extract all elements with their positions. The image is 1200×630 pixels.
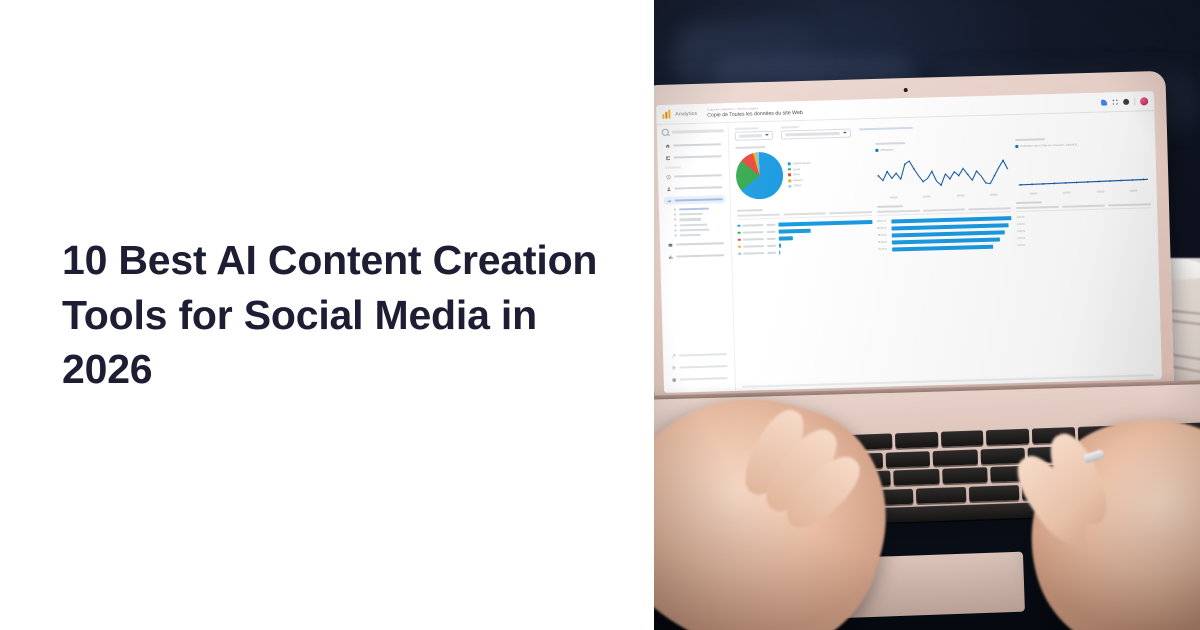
sidebar-item-temps-reel[interactable] <box>663 171 725 181</box>
row-value <box>767 245 776 247</box>
conversion-filter <box>781 125 851 140</box>
customization-icon <box>665 155 670 160</box>
divider <box>1134 97 1135 105</box>
sidebar-item-label <box>676 254 724 258</box>
sidebar-subitem-label <box>679 228 709 231</box>
sidebar-subitem-vue-ensemble[interactable] <box>674 207 726 211</box>
primary-dimension-select[interactable] <box>735 131 773 141</box>
legend-item: Organic Search <box>788 162 811 166</box>
bullet-icon <box>674 224 676 226</box>
help-icon[interactable] <box>1123 98 1129 104</box>
sidebar-item-comportement[interactable] <box>665 239 727 249</box>
legend-item: Direct <box>788 173 811 177</box>
legend-item: Social <box>788 167 811 171</box>
search-placeholder <box>672 129 724 133</box>
sidebar-subitem-tout-le-trafic[interactable] <box>674 212 726 216</box>
sidebar-item-acquisition[interactable] <box>664 195 726 205</box>
pie-chart <box>735 152 783 200</box>
card-title <box>1015 138 1045 141</box>
row-value: 75,44 % <box>878 241 889 244</box>
acquisition-icon <box>667 198 672 203</box>
tick <box>990 194 998 196</box>
sidebar-item-label <box>675 198 723 202</box>
row-value <box>766 224 775 226</box>
sidebar-item-conversions[interactable] <box>665 251 727 261</box>
sidebar-subitem-campagnes[interactable] <box>675 233 727 237</box>
conversion-select[interactable] <box>781 129 851 140</box>
column-header <box>737 214 780 217</box>
tick <box>956 195 964 197</box>
column-header <box>829 211 872 214</box>
analytics-dashboard: Analytics Toutes les catégories > Tous l… <box>656 91 1162 393</box>
sidebar-item-administration[interactable] <box>669 374 731 384</box>
chevron-down-icon <box>843 132 847 134</box>
row-value: 80,53 % <box>877 227 888 230</box>
apps-grid-icon[interactable] <box>1112 99 1118 105</box>
column-header <box>923 209 966 212</box>
avatar[interactable] <box>1140 97 1148 105</box>
card-title <box>735 146 765 149</box>
sidebar-item-decouvrir[interactable] <box>668 362 730 372</box>
row-value <box>767 231 776 233</box>
bullet-icon <box>674 219 676 221</box>
select-value <box>739 134 762 137</box>
bullet-icon <box>675 235 677 237</box>
sidebar-item-label <box>673 155 721 159</box>
table-title <box>1016 201 1042 204</box>
users-line-chart <box>876 150 1011 196</box>
row-value: 82,87 % <box>877 220 888 223</box>
summary-cards: Organic Search Social Direct Referral (O… <box>735 135 1150 203</box>
sidebar-item-label <box>674 186 722 190</box>
row-label <box>742 224 763 227</box>
table-title <box>737 209 763 212</box>
search-input[interactable] <box>662 127 724 136</box>
discover-icon <box>671 365 676 370</box>
column-header <box>877 210 920 213</box>
audience-icon <box>666 186 671 191</box>
bullet-icon <box>675 229 677 231</box>
card-title <box>875 142 905 145</box>
laptop-screen: Analytics Toutes les catégories > Tous l… <box>656 91 1162 393</box>
report-tables: 82,87 % 80,53 % 78,44 % <box>737 198 1152 257</box>
table-title <box>877 205 903 208</box>
column-header <box>969 208 1012 211</box>
chevron-down-icon <box>765 134 769 136</box>
row-bar <box>779 250 780 254</box>
home-icon <box>665 143 670 148</box>
table-conversions: 0,00 % 0,00 % 0,00 % 0,00 % 0,00 % <box>1016 198 1152 249</box>
row-value: 78,44 % <box>877 234 888 237</box>
sidebar-subitem-label <box>679 213 703 216</box>
tick <box>1029 193 1037 195</box>
sidebar-item-attribution[interactable] <box>668 350 730 360</box>
headline-panel: 10 Best AI Content Creation Tools for So… <box>0 0 654 630</box>
sidebar-subitem-search-console[interactable] <box>674 223 726 227</box>
webcam-icon <box>904 88 908 92</box>
tick <box>923 196 931 198</box>
table-comportement: 82,87 % 80,53 % 78,44 % <box>877 202 1013 253</box>
tick <box>889 197 897 199</box>
sidebar-item-label <box>680 377 728 381</box>
row-value: 0,00 % <box>1017 237 1028 240</box>
sidebar-section-label <box>665 166 681 168</box>
brand-label: Analytics <box>675 110 697 117</box>
bullet-icon <box>674 214 676 216</box>
realtime-icon <box>666 174 671 179</box>
card-principaux-canaux: Organic Search Social Direct Referral (O… <box>735 143 871 203</box>
topbar-actions <box>1101 97 1148 106</box>
row-label <box>742 231 763 234</box>
sidebar-bottom <box>668 346 731 388</box>
select-value <box>785 132 840 136</box>
search-icon <box>662 129 669 136</box>
sidebar-item-audience[interactable] <box>663 183 725 193</box>
column-header <box>1108 204 1151 207</box>
column-header <box>1016 206 1059 209</box>
sidebar-subitem-label <box>679 223 707 226</box>
attribution-icon <box>671 353 676 358</box>
bell-icon[interactable] <box>1101 99 1107 105</box>
sidebar-item-label <box>679 353 727 357</box>
row-value: 0,00 % <box>1017 244 1028 247</box>
sidebar-item-accueil[interactable] <box>662 140 724 150</box>
legend-item: (Other) <box>788 184 811 188</box>
pie-legend: Organic Search Social Direct Referral (O… <box>788 162 812 188</box>
property-header: Toutes les catégories > Tous les comptes… <box>707 105 803 119</box>
sidebar-item-personnalisation[interactable] <box>662 152 724 162</box>
column-header <box>783 213 826 216</box>
analytics-logo-icon <box>662 110 671 119</box>
row-label <box>743 252 764 255</box>
sidebar-subitem-reseaux-sociaux[interactable] <box>675 228 727 232</box>
sidebar-subitem-label <box>678 208 708 211</box>
row-value <box>767 252 776 254</box>
table-acquisition <box>737 206 873 257</box>
row-label <box>743 245 764 248</box>
row-label <box>742 238 763 241</box>
sidebar <box>657 123 736 393</box>
sidebar-item-label <box>674 174 722 178</box>
property-title[interactable]: Copie de Toutes les données du site Web <box>707 110 803 119</box>
row-bar <box>779 228 811 233</box>
behavior-icon <box>668 242 673 247</box>
tick <box>1096 191 1104 193</box>
filter-label <box>781 126 799 129</box>
sidebar-subitem-label <box>679 218 701 221</box>
row-bar <box>779 236 793 241</box>
row-bar <box>892 244 993 251</box>
card-utilisateurs: Utilisateurs <box>875 139 1011 199</box>
tick <box>1130 190 1138 192</box>
row-value: 0,00 % <box>1017 223 1028 226</box>
row-value: 70,02 % <box>878 248 889 251</box>
row-value: 0,00 % <box>1017 216 1028 219</box>
sidebar-item-label <box>673 143 721 147</box>
bullet-icon <box>674 209 676 211</box>
row-value: 0,00 % <box>1017 230 1028 233</box>
primary-dimension-filter <box>735 127 773 141</box>
filter-label <box>735 127 759 130</box>
column-header <box>1062 205 1105 208</box>
conversions-icon <box>668 254 673 259</box>
page-title: 10 Best AI Content Creation Tools for So… <box>62 233 614 397</box>
conversions-line-chart <box>1015 146 1150 192</box>
tick <box>1063 192 1071 194</box>
hero-photograph: MacBook Air Analytics Toutes les catégor… <box>654 0 1200 630</box>
card-conversions: Réalisation sign in (Taux de conversion … <box>1015 135 1151 195</box>
laptop-lid: MacBook Air Analytics Toutes les catégor… <box>654 71 1175 415</box>
sidebar-subitem-label <box>679 234 700 237</box>
sidebar-item-label <box>676 242 724 246</box>
sidebar-item-label <box>679 365 727 369</box>
sidebar-subitem-google-ads[interactable] <box>674 217 726 221</box>
row-value <box>767 238 776 240</box>
dashboard-main: Organic Search Social Direct Referral (O… <box>729 111 1162 391</box>
pie-chart-wrap: Organic Search Social Direct Referral (O… <box>735 149 870 200</box>
edit-channel-group-link[interactable] <box>859 126 913 130</box>
legend-item: Referral <box>788 179 811 183</box>
admin-gear-icon <box>672 377 677 382</box>
blog-hero-banner: 10 Best AI Content Creation Tools for So… <box>0 0 1200 630</box>
row-bar <box>779 243 781 247</box>
